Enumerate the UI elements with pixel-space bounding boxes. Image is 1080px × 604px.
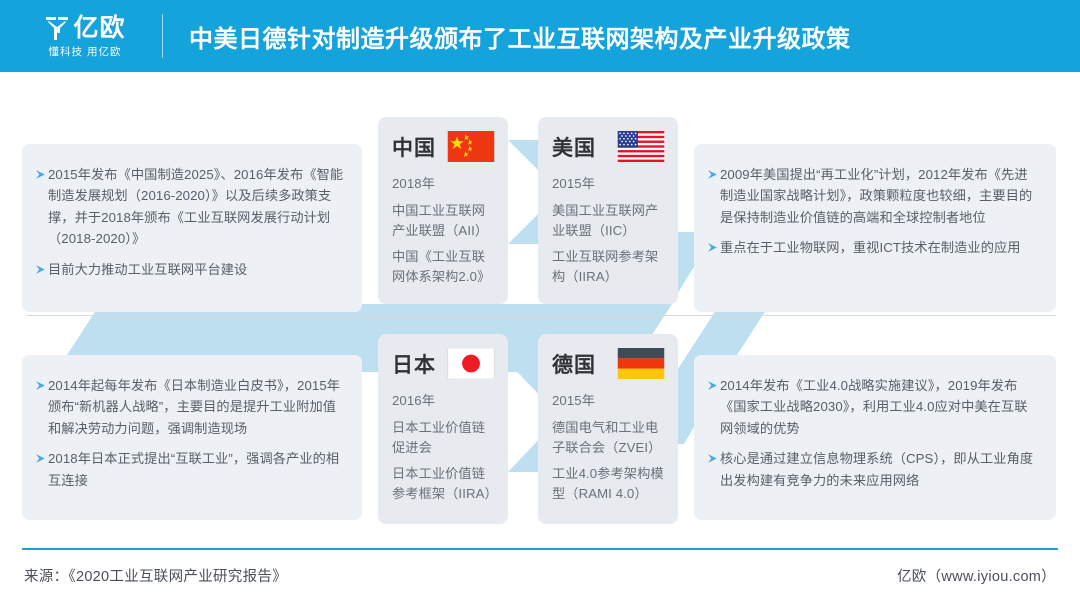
row-divider: [26, 315, 1056, 316]
country-card-china[interactable]: 中国 2018年 中国工业互联网产业联盟（AII） 中国《工业互联网体系架构2.…: [378, 117, 508, 304]
bullet-item: 2018年日本正式提出“互联工业”，强调各产业的相互连接: [36, 448, 346, 491]
bullet-text: 2009年美国提出“再工业化”计划，2012年发布《先进制造业国家战略计划》，政…: [720, 164, 1040, 228]
arrow-bullet-icon: [708, 169, 719, 180]
country-framework: 日本工业价值链参考框架（IIRA）: [392, 464, 495, 504]
arrow-bullet-icon: [708, 242, 719, 253]
yiou-logo-icon: [44, 14, 70, 42]
logo-tagline: 懂科技 用亿欧: [49, 47, 122, 58]
brand-logo[interactable]: 亿欧 懂科技 用亿欧: [26, 14, 144, 58]
country-framework: 工业互联网参考架构（IIRA）: [552, 247, 665, 287]
country-framework: 工业4.0参考架构模型（RAMI 4.0）: [552, 464, 665, 504]
bullet-text: 2014年起每年发布《日本制造业白皮书》，2015年颁布“新机器人战略”，主要目…: [48, 375, 346, 439]
country-name: 美国: [552, 132, 596, 162]
bullet-item: 重点在于工业物联网，重视ICT技术在制造业的应用: [708, 237, 1040, 258]
bullet-item: 2015年发布《中国制造2025》、2016年发布《智能制造发展规划（2016-…: [36, 164, 346, 250]
country-name: 中国: [392, 132, 436, 162]
flag-usa-icon: [617, 131, 665, 162]
footer-site: 亿欧（www.iyiou.com）: [897, 565, 1056, 586]
bullet-item: 核心是通过建立信息物理系统（CPS），即从工业角度出发构建有竞争力的未来应用网络: [708, 448, 1040, 491]
country-header: 中国: [392, 131, 495, 162]
logo-wordmark: 亿欧: [73, 16, 125, 41]
bullet-item: 2009年美国提出“再工业化”计划，2012年发布《先进制造业国家战略计划》，政…: [708, 164, 1040, 228]
country-header: 德国: [552, 348, 665, 379]
country-year: 2018年: [392, 174, 495, 194]
bullet-text: 2015年发布《中国制造2025》、2016年发布《智能制造发展规划（2016-…: [48, 164, 346, 250]
bullet-item: 2014年起每年发布《日本制造业白皮书》，2015年颁布“新机器人战略”，主要目…: [36, 375, 346, 439]
arrow-bullet-icon: [708, 380, 719, 391]
bullet-text: 重点在于工业物联网，重视ICT技术在制造业的应用: [720, 237, 1021, 258]
arrow-bullet-icon: [708, 453, 719, 464]
page-title: 中美日德针对制造升级颁布了工业互联网架构及产业升级政策: [189, 19, 851, 54]
description-card-china: 2015年发布《中国制造2025》、2016年发布《智能制造发展规划（2016-…: [22, 144, 362, 312]
bullet-text: 2014年发布《工业4.0战略实施建议》，2019年发布《国家工业战略2030》…: [720, 375, 1040, 439]
flag-japan-icon: [447, 348, 495, 379]
bullet-item: 2014年发布《工业4.0战略实施建议》，2019年发布《国家工业战略2030》…: [708, 375, 1040, 439]
country-year: 2015年: [552, 174, 665, 194]
description-card-usa: 2009年美国提出“再工业化”计划，2012年发布《先进制造业国家战略计划》，政…: [694, 144, 1056, 312]
flag-germany-icon: [617, 348, 665, 379]
country-organization: 中国工业互联网产业联盟（AII）: [392, 201, 495, 241]
bullet-text: 2018年日本正式提出“互联工业”，强调各产业的相互连接: [48, 448, 346, 491]
arrow-bullet-icon: [36, 264, 47, 275]
country-organization: 美国工业互联网产业联盟（IIC）: [552, 201, 665, 241]
logo-row: 亿欧: [44, 14, 125, 42]
country-card-japan[interactable]: 日本 2016年 日本工业价值链促进会 日本工业价值链参考框架（IIRA）: [378, 334, 508, 524]
footer-source: 来源：《2020工业互联网产业研究报告》: [24, 565, 287, 586]
country-name: 日本: [392, 349, 436, 379]
flag-china-icon: [447, 131, 495, 162]
country-header: 美国: [552, 131, 665, 162]
country-name: 德国: [552, 349, 596, 379]
arrow-bullet-icon: [36, 453, 47, 464]
bullet-text: 目前大力推动工业互联网平台建设: [48, 259, 247, 280]
description-card-germany: 2014年发布《工业4.0战略实施建议》，2019年发布《国家工业战略2030》…: [694, 355, 1056, 520]
header-divider: [162, 14, 163, 58]
country-card-germany[interactable]: 德国 2015年 德国电气和工业电子联合会（ZVEI） 工业4.0参考架构模型（…: [538, 334, 678, 524]
bullet-text: 核心是通过建立信息物理系统（CPS），即从工业角度出发构建有竞争力的未来应用网络: [720, 448, 1040, 491]
page-header: 亿欧 懂科技 用亿欧 中美日德针对制造升级颁布了工业互联网架构及产业升级政策: [0, 0, 1080, 72]
country-organization: 日本工业价值链促进会: [392, 418, 495, 458]
country-organization: 德国电气和工业电子联合会（ZVEI）: [552, 418, 665, 458]
page-footer: 来源：《2020工业互联网产业研究报告》 亿欧（www.iyiou.com）: [0, 565, 1080, 586]
description-card-japan: 2014年起每年发布《日本制造业白皮书》，2015年颁布“新机器人战略”，主要目…: [22, 355, 362, 520]
country-header: 日本: [392, 348, 495, 379]
country-year: 2015年: [552, 391, 665, 411]
country-year: 2016年: [392, 391, 495, 411]
country-card-usa[interactable]: 美国: [538, 117, 678, 304]
content-stage: 2015年发布《中国制造2025》、2016年发布《智能制造发展规划（2016-…: [0, 72, 1080, 532]
country-framework: 中国《工业互联网体系架构2.0》: [392, 247, 495, 287]
bullet-item: 目前大力推动工业互联网平台建设: [36, 259, 346, 280]
footer-rule: [22, 548, 1058, 550]
arrow-bullet-icon: [36, 380, 47, 391]
arrow-bullet-icon: [36, 169, 47, 180]
